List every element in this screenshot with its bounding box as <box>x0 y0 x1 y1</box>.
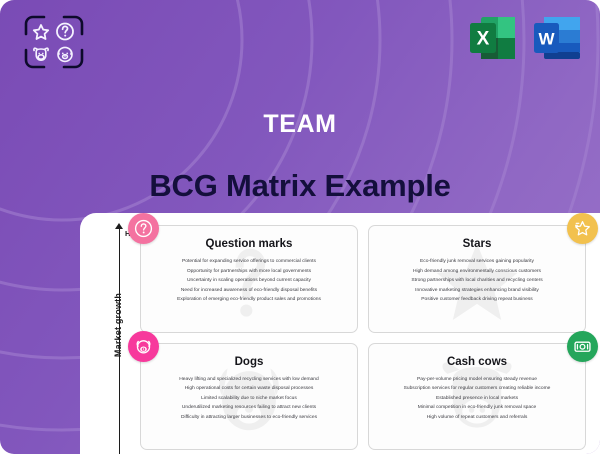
list-item: High demand among environmentally consci… <box>378 267 576 277</box>
question-marks-badge <box>128 213 159 244</box>
quadrant-bullet-list: Pay-per-volume pricing model ensuring st… <box>378 375 576 423</box>
word-icon[interactable]: W <box>532 12 584 64</box>
list-item: Underutilized marketing resources failin… <box>150 403 348 413</box>
quadrant-title: Question marks <box>150 238 348 250</box>
svg-text:W: W <box>538 30 555 49</box>
list-item: Heavy lifting and specialized recycling … <box>150 375 348 385</box>
list-item: Opportunity for partnerships with more l… <box>150 267 348 277</box>
list-item: High volume of repeat customers and refe… <box>378 413 576 423</box>
eyebrow-text: TEAM <box>0 110 600 139</box>
quadrant-title: Stars <box>378 238 576 250</box>
axis-title-label: Market growth <box>113 275 123 375</box>
list-item: Subscription services for regular custom… <box>378 384 576 394</box>
svg-text:X: X <box>477 29 490 50</box>
quadrant-stars[interactable]: Stars Eco-friendly junk removal services… <box>368 225 586 333</box>
list-item: Limited scalability due to niche market … <box>150 394 348 404</box>
quadrant-title: Dogs <box>150 356 348 368</box>
list-item: Exploration of emerging eco-friendly pro… <box>150 295 348 305</box>
list-item: Need for increased awareness of eco-frie… <box>150 286 348 296</box>
stars-badge <box>567 213 598 244</box>
matrix-card: High Market growth <box>80 213 600 454</box>
quadrant-cash-cows[interactable]: Cash cows Pay-per-volume pricing model e… <box>368 343 586 451</box>
list-item: Minimal competition in eco-friendly junk… <box>378 403 576 413</box>
slide-root: X W TEAM BCG Matrix Example High Market … <box>0 0 600 454</box>
quadrant-title: Cash cows <box>378 356 576 368</box>
quadrant-bullet-list: Potential for expanding service offering… <box>150 257 348 305</box>
dogs-badge <box>128 331 159 362</box>
quadrant-bullet-list: Heavy lifting and specialized recycling … <box>150 375 348 423</box>
quadrant-dogs[interactable]: Dogs Heavy lifting and specialized recyc… <box>140 343 358 451</box>
list-item: Potential for expanding service offering… <box>150 257 348 267</box>
excel-icon[interactable]: X <box>467 12 519 64</box>
page-title: BCG Matrix Example <box>0 168 600 204</box>
list-item: Eco-friendly junk removal services gaini… <box>378 257 576 267</box>
office-app-icons: X W <box>467 12 584 64</box>
list-item: Innovative marketing strategies enhancin… <box>378 286 576 296</box>
list-item: Positive customer feedback driving repea… <box>378 295 576 305</box>
quadrant-grid: Question marks Potential for expanding s… <box>140 225 586 450</box>
list-item: Difficulty in attracting larger business… <box>150 413 348 423</box>
list-item: Pay-per-volume pricing model ensuring st… <box>378 375 576 385</box>
cash-cows-badge <box>567 331 598 362</box>
list-item: Strong partnerships with local charities… <box>378 276 576 286</box>
list-item: Established presence in local markets <box>378 394 576 404</box>
list-item: Uncertainty in scaling operations beyond… <box>150 276 348 286</box>
list-item: High operational costs for certain waste… <box>150 384 348 394</box>
quadrant-question-marks[interactable]: Question marks Potential for expanding s… <box>140 225 358 333</box>
bcg-matrix-grid-logo <box>23 14 85 70</box>
quadrant-bullet-list: Eco-friendly junk removal services gaini… <box>378 257 576 305</box>
